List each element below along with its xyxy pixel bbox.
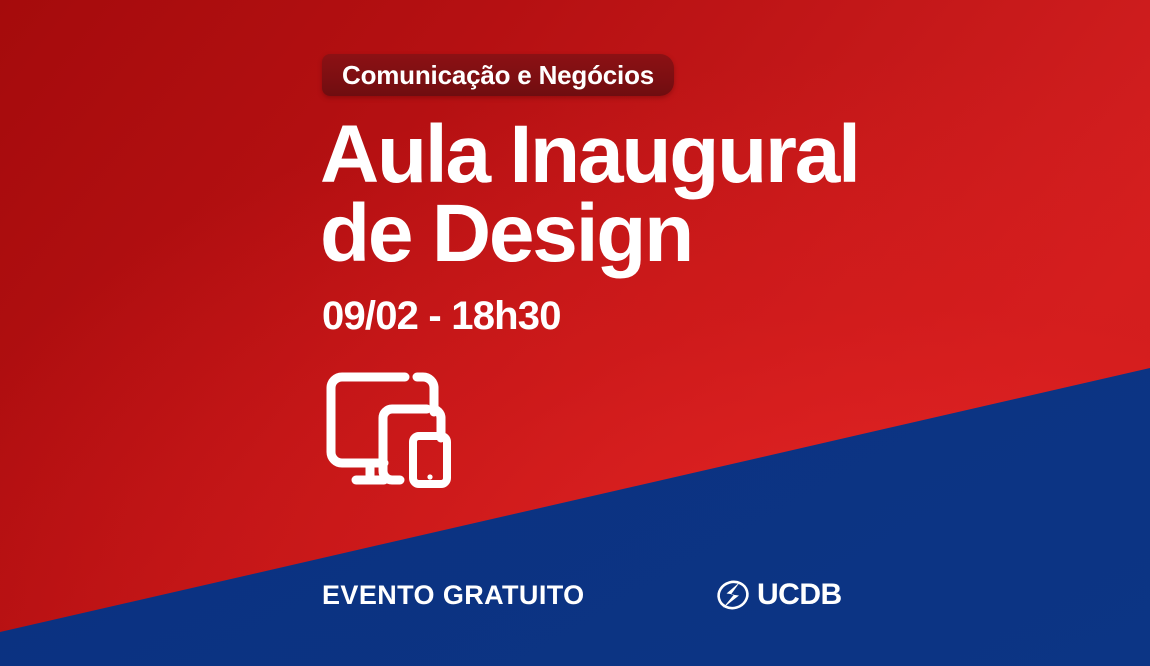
devices-icon <box>322 368 462 488</box>
blue-diagonal-band <box>0 0 1150 666</box>
category-badge-label: Comunicação e Negócios <box>342 62 654 88</box>
event-datetime: 09/02 - 18h30 <box>322 296 561 336</box>
ucdb-swirl-icon <box>712 575 754 615</box>
page-title-line-2: de Design <box>320 195 859 274</box>
ucdb-logo: UCDB <box>712 575 842 615</box>
page-title: Aula Inaugural de Design <box>320 116 859 273</box>
event-banner: Comunicação e Negócios Aula Inaugural de… <box>0 0 1150 666</box>
ucdb-wordmark: UCDB <box>757 580 842 610</box>
free-event-label: EVENTO GRATUITO <box>322 582 585 609</box>
page-title-line-1: Aula Inaugural <box>320 116 859 195</box>
category-badge: Comunicação e Negócios <box>322 54 674 96</box>
